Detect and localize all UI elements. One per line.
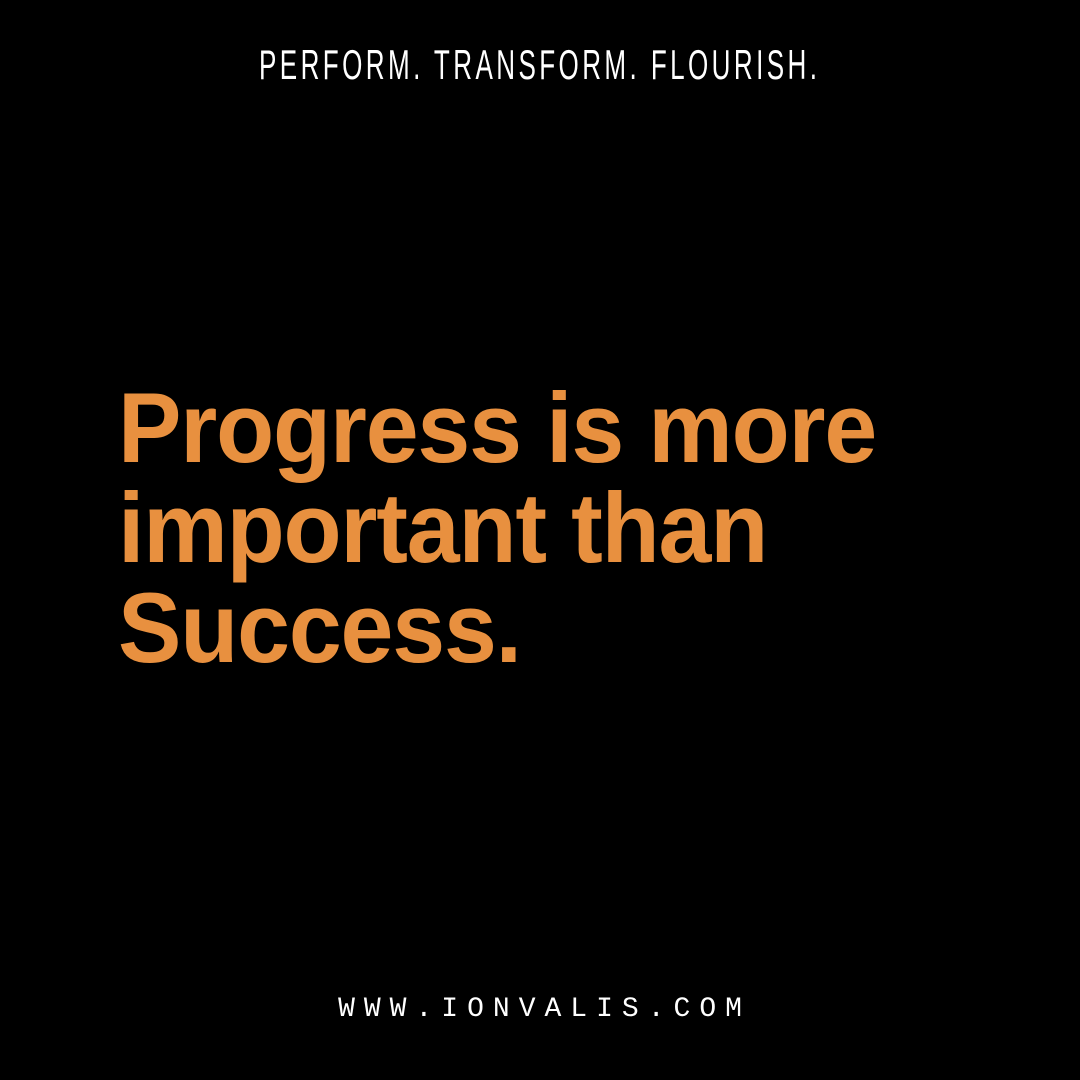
brand-tagline: PERFORM. TRANSFORM. FLOURISH. [259, 44, 820, 86]
quote-line-1: Progress is more [118, 378, 944, 478]
website-url: WWW.IONVALIS.COM [329, 996, 751, 1024]
footer-container: WWW.IONVALIS.COM [0, 996, 1080, 1024]
quote-block: Progress is more important than Success. [118, 378, 978, 678]
tagline-container: PERFORM. TRANSFORM. FLOURISH. [0, 44, 1080, 86]
quote-graphic-canvas: PERFORM. TRANSFORM. FLOURISH. Progress i… [0, 0, 1080, 1080]
quote-line-2: important than [118, 478, 944, 578]
quote-line-3: Success. [118, 578, 944, 678]
